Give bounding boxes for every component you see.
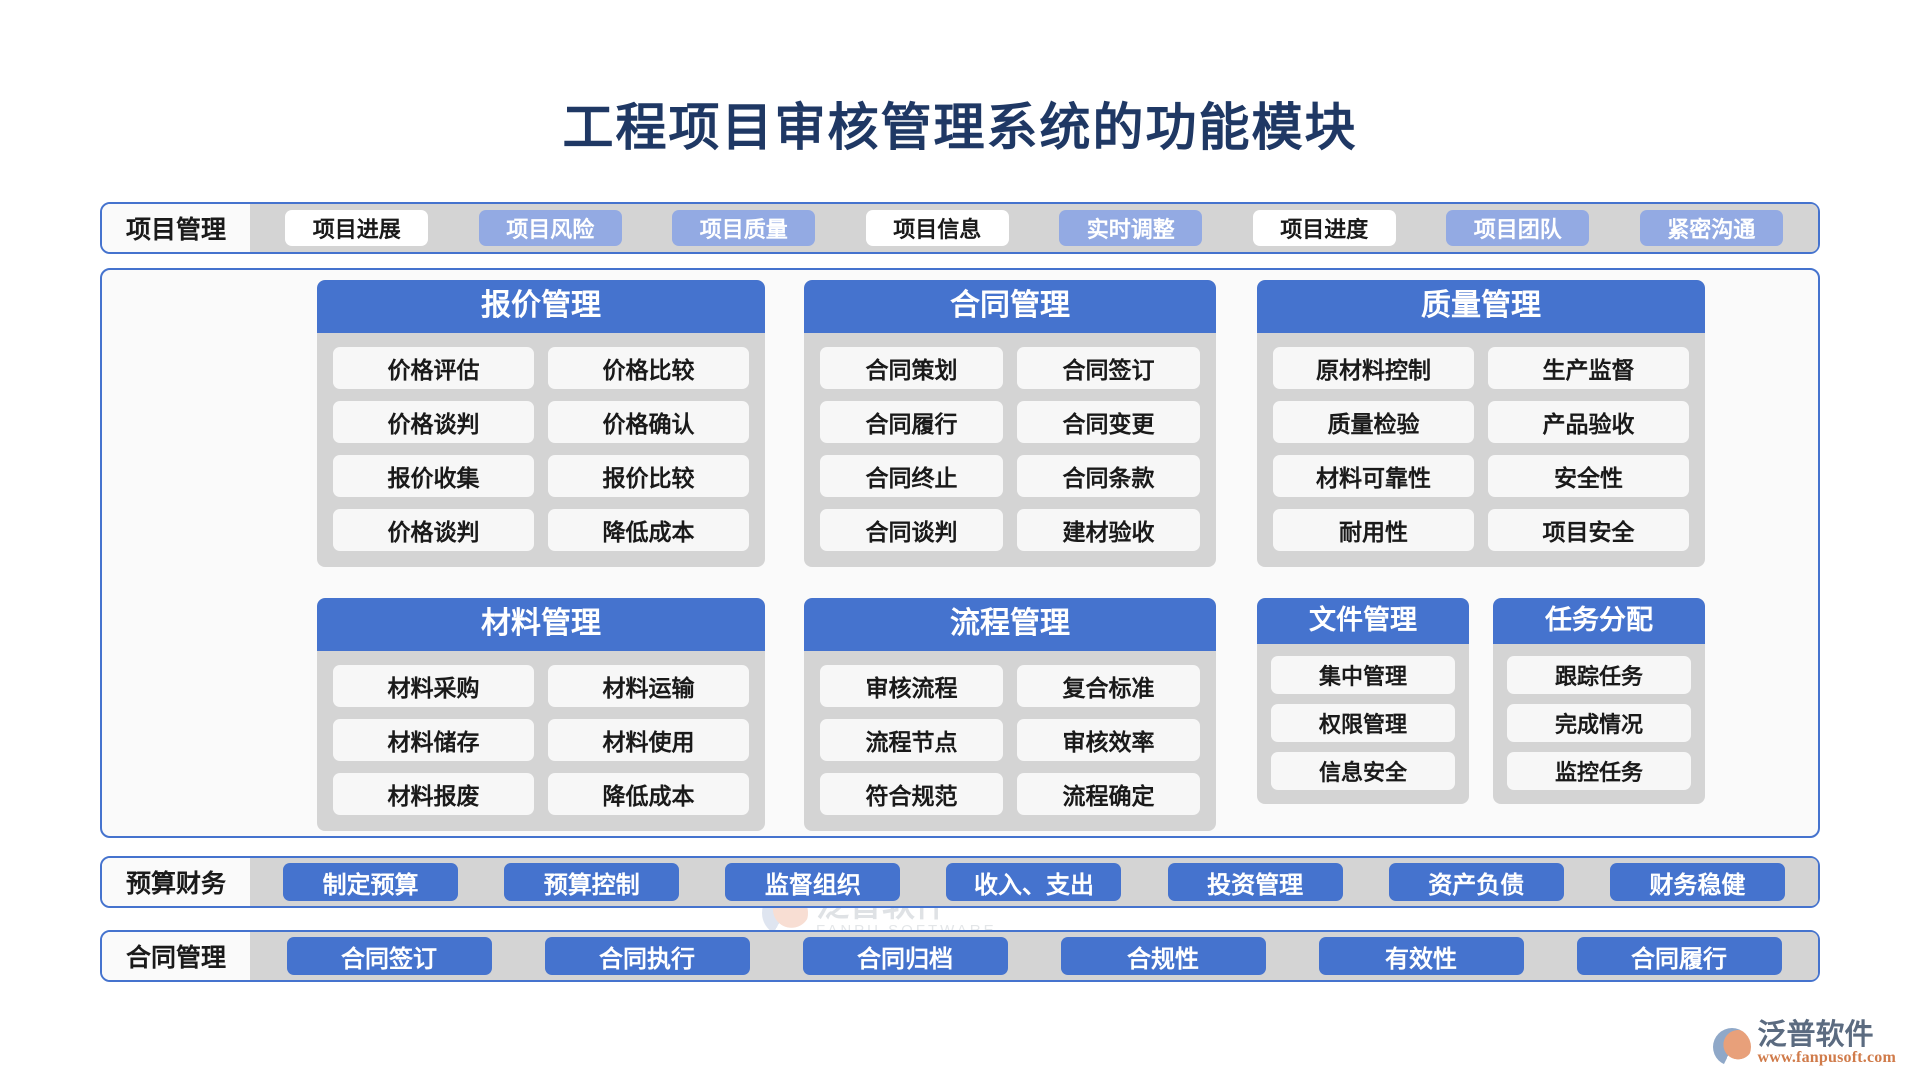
- module-card-title: 报价管理: [317, 280, 765, 333]
- fanpu-logo-cn: 泛普软件: [1757, 1020, 1896, 1050]
- module-chip-list: 集中管理 权限管理 信息安全: [1257, 644, 1469, 804]
- module-card-document[interactable]: 文件管理 集中管理 权限管理 信息安全: [1257, 598, 1469, 804]
- module-card-workflow[interactable]: 流程管理 审核流程 复合标准 流程节点 审核效率 符合规范 流程确定: [804, 598, 1216, 831]
- module-chip[interactable]: 材料报废: [333, 773, 534, 815]
- module-card-title: 质量管理: [1257, 280, 1705, 333]
- module-chip[interactable]: 合同终止: [820, 455, 1003, 497]
- band-inner: 预算财务 制定预算预算控制监督组织收入、支出投资管理资产负债财务稳健: [102, 858, 1818, 906]
- module-chip-list: 价格评估 价格比较 价格谈判 价格确认 报价收集 报价比较 价格谈判 降低成本: [317, 333, 765, 567]
- module-chip[interactable]: 审核流程: [820, 665, 1003, 707]
- band-label-project-management: 项目管理: [102, 204, 250, 252]
- module-card-task[interactable]: 任务分配 跟踪任务 完成情况 监控任务: [1493, 598, 1705, 804]
- module-chip[interactable]: 合同策划: [820, 347, 1003, 389]
- module-card-title: 文件管理: [1257, 598, 1469, 644]
- project-management-pill-list: 项目进展项目风险项目质量项目信息实时调整项目进度项目团队紧密沟通: [250, 204, 1818, 252]
- budget-finance-pill[interactable]: 投资管理: [1168, 863, 1343, 901]
- module-chip[interactable]: 流程确定: [1017, 773, 1200, 815]
- module-chip[interactable]: 价格评估: [333, 347, 534, 389]
- module-chip[interactable]: 流程节点: [820, 719, 1003, 761]
- module-chip[interactable]: 合同谈判: [820, 509, 1003, 551]
- module-chip[interactable]: 材料储存: [333, 719, 534, 761]
- module-chip[interactable]: 信息安全: [1271, 752, 1455, 790]
- budget-finance-pill[interactable]: 收入、支出: [946, 863, 1121, 901]
- module-chip[interactable]: 价格谈判: [333, 509, 534, 551]
- module-chip[interactable]: 价格确认: [548, 401, 749, 443]
- project-management-pill[interactable]: 项目进展: [285, 210, 428, 246]
- module-chip[interactable]: 符合规范: [820, 773, 1003, 815]
- module-chip[interactable]: 质量检验: [1273, 401, 1474, 443]
- project-management-pill[interactable]: 项目进度: [1253, 210, 1396, 246]
- budget-finance-pill[interactable]: 制定预算: [283, 863, 458, 901]
- module-card-title: 任务分配: [1493, 598, 1705, 644]
- module-chip[interactable]: 价格比较: [548, 347, 749, 389]
- contract-management-pill[interactable]: 有效性: [1319, 937, 1524, 975]
- contract-management-pill[interactable]: 合规性: [1061, 937, 1266, 975]
- module-chip[interactable]: 价格谈判: [333, 401, 534, 443]
- module-card-quotation[interactable]: 报价管理 价格评估 价格比较 价格谈判 价格确认 报价收集 报价比较 价格谈判 …: [317, 280, 765, 567]
- module-chip[interactable]: 报价比较: [548, 455, 749, 497]
- module-chip[interactable]: 跟踪任务: [1507, 656, 1691, 694]
- project-management-pill[interactable]: 紧密沟通: [1640, 210, 1783, 246]
- module-chip[interactable]: 耐用性: [1273, 509, 1474, 551]
- fanpu-logo-url: www.fanpusoft.com: [1757, 1050, 1896, 1066]
- module-card-quality[interactable]: 质量管理 原材料控制 生产监督 质量检验 产品验收 材料可靠性 安全性 耐用性 …: [1257, 280, 1705, 567]
- module-chip-list: 合同策划 合同签订 合同履行 合同变更 合同终止 合同条款 合同谈判 建材验收: [804, 333, 1216, 567]
- module-chip[interactable]: 降低成本: [548, 773, 749, 815]
- module-chip[interactable]: 合同变更: [1017, 401, 1200, 443]
- page-title: 工程项目审核管理系统的功能模块: [0, 86, 1920, 160]
- contract-management-band: 合同管理 合同签订合同执行合同归档合规性有效性合同履行: [100, 930, 1820, 982]
- band-inner: 合同管理 合同签订合同执行合同归档合规性有效性合同履行: [102, 932, 1818, 980]
- module-chip[interactable]: 项目安全: [1488, 509, 1689, 551]
- budget-finance-pill[interactable]: 财务稳健: [1610, 863, 1785, 901]
- contract-management-pill[interactable]: 合同履行: [1577, 937, 1782, 975]
- project-management-band: 项目管理 项目进展项目风险项目质量项目信息实时调整项目进度项目团队紧密沟通: [100, 202, 1820, 254]
- module-chip[interactable]: 生产监督: [1488, 347, 1689, 389]
- project-management-pill[interactable]: 项目团队: [1446, 210, 1589, 246]
- module-chip[interactable]: 材料使用: [548, 719, 749, 761]
- module-chip[interactable]: 报价收集: [333, 455, 534, 497]
- modules-frame: 报价管理 价格评估 价格比较 价格谈判 价格确认 报价收集 报价比较 价格谈判 …: [100, 268, 1820, 838]
- module-chip[interactable]: 合同条款: [1017, 455, 1200, 497]
- band-label-contract-management: 合同管理: [102, 932, 250, 980]
- module-chip[interactable]: 材料运输: [548, 665, 749, 707]
- module-chip[interactable]: 产品验收: [1488, 401, 1689, 443]
- contract-management-pill[interactable]: 合同签订: [287, 937, 492, 975]
- module-chip[interactable]: 完成情况: [1507, 704, 1691, 742]
- project-management-pill[interactable]: 项目信息: [866, 210, 1009, 246]
- module-card-contract[interactable]: 合同管理 合同策划 合同签订 合同履行 合同变更 合同终止 合同条款 合同谈判 …: [804, 280, 1216, 567]
- fanpu-logo-text: 泛普软件 www.fanpusoft.com: [1757, 1020, 1896, 1066]
- module-chip[interactable]: 合同履行: [820, 401, 1003, 443]
- module-chip[interactable]: 权限管理: [1271, 704, 1455, 742]
- module-card-title: 流程管理: [804, 598, 1216, 651]
- fanpu-logo-icon: [1713, 1028, 1751, 1066]
- module-chip-list: 跟踪任务 完成情况 监控任务: [1493, 644, 1705, 804]
- module-chip-list: 原材料控制 生产监督 质量检验 产品验收 材料可靠性 安全性 耐用性 项目安全: [1257, 333, 1705, 567]
- project-management-pill[interactable]: 项目风险: [479, 210, 622, 246]
- module-chip[interactable]: 材料可靠性: [1273, 455, 1474, 497]
- module-chip[interactable]: 原材料控制: [1273, 347, 1474, 389]
- module-chip[interactable]: 复合标准: [1017, 665, 1200, 707]
- contract-management-pill[interactable]: 合同归档: [803, 937, 1008, 975]
- module-chip[interactable]: 安全性: [1488, 455, 1689, 497]
- contract-management-pill-list: 合同签订合同执行合同归档合规性有效性合同履行: [250, 932, 1818, 980]
- band-label-budget-finance: 预算财务: [102, 858, 250, 906]
- module-chip-list: 审核流程 复合标准 流程节点 审核效率 符合规范 流程确定: [804, 651, 1216, 831]
- budget-finance-band: 预算财务 制定预算预算控制监督组织收入、支出投资管理资产负债财务稳健: [100, 856, 1820, 908]
- infographic-page: 工程项目审核管理系统的功能模块 项目管理 项目进展项目风险项目质量项目信息实时调…: [0, 0, 1920, 1080]
- module-chip[interactable]: 审核效率: [1017, 719, 1200, 761]
- module-card-title: 材料管理: [317, 598, 765, 651]
- budget-finance-pill-list: 制定预算预算控制监督组织收入、支出投资管理资产负债财务稳健: [250, 858, 1818, 906]
- project-management-pill[interactable]: 项目质量: [672, 210, 815, 246]
- fanpu-corner-logo: 泛普软件 www.fanpusoft.com: [1713, 1020, 1896, 1066]
- module-chip[interactable]: 监控任务: [1507, 752, 1691, 790]
- budget-finance-pill[interactable]: 资产负债: [1389, 863, 1564, 901]
- module-chip[interactable]: 降低成本: [548, 509, 749, 551]
- budget-finance-pill[interactable]: 预算控制: [504, 863, 679, 901]
- band-inner: 项目管理 项目进展项目风险项目质量项目信息实时调整项目进度项目团队紧密沟通: [102, 204, 1818, 252]
- project-management-pill[interactable]: 实时调整: [1059, 210, 1202, 246]
- module-card-material[interactable]: 材料管理 材料采购 材料运输 材料储存 材料使用 材料报废 降低成本: [317, 598, 765, 831]
- contract-management-pill[interactable]: 合同执行: [545, 937, 750, 975]
- module-chip[interactable]: 集中管理: [1271, 656, 1455, 694]
- module-chip[interactable]: 建材验收: [1017, 509, 1200, 551]
- module-chip[interactable]: 合同签订: [1017, 347, 1200, 389]
- module-chip[interactable]: 材料采购: [333, 665, 534, 707]
- module-chip-list: 材料采购 材料运输 材料储存 材料使用 材料报废 降低成本: [317, 651, 765, 831]
- module-card-title: 合同管理: [804, 280, 1216, 333]
- budget-finance-pill[interactable]: 监督组织: [725, 863, 900, 901]
